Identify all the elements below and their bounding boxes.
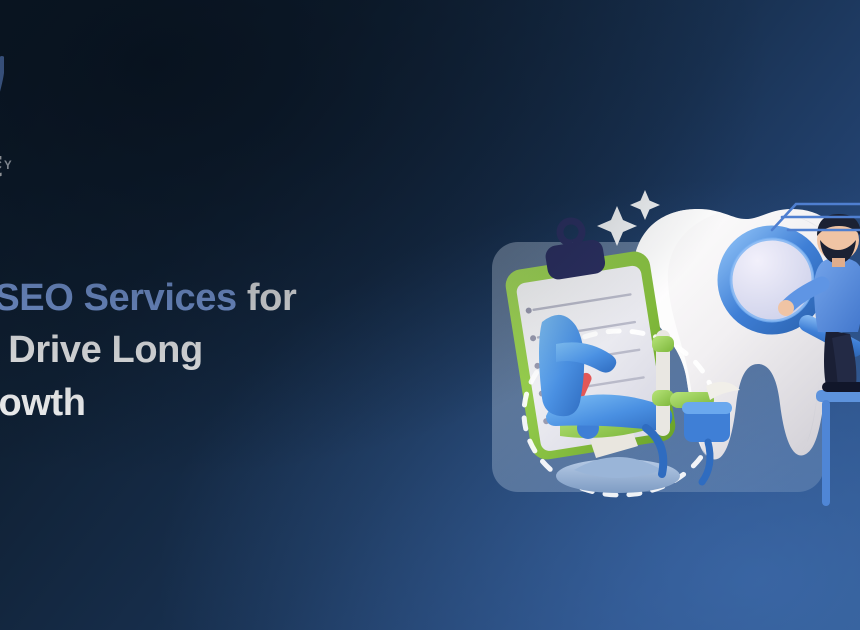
tooth-outline-icon xyxy=(0,55,4,151)
hero-banner: fast C AGENCY ays SEO Services for tists… xyxy=(0,0,860,630)
headline-white-text: for xyxy=(237,277,297,319)
headline-line-2: tists Drive Long xyxy=(0,324,482,376)
logo-tagline: C AGENCY xyxy=(0,160,14,172)
headline-accent-text: ays SEO Services xyxy=(0,277,237,319)
headline-line-3: h Growth xyxy=(0,377,482,429)
decorative-arrow-lines xyxy=(766,186,860,256)
brand-logo[interactable]: fast C AGENCY xyxy=(0,55,142,195)
page-title: ays SEO Services for tists Drive Long h … xyxy=(0,272,482,429)
headline-line-1: ays SEO Services for xyxy=(0,272,482,324)
platform-stand xyxy=(816,390,860,506)
